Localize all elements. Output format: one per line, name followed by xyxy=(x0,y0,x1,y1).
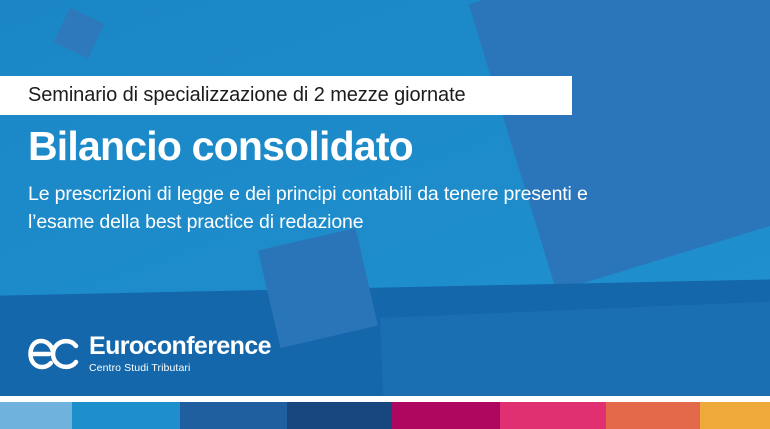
logo-name: Euroconference xyxy=(89,334,271,359)
subtitle-line-1: Le prescrizioni di legge e dei principi … xyxy=(28,180,744,208)
colorbar-segment-medium-blue xyxy=(180,402,287,429)
colorbar xyxy=(0,402,770,429)
page-title: Bilancio consolidato xyxy=(28,126,413,167)
colorbar-segment-blue xyxy=(72,402,180,429)
colorbar-segment-amber xyxy=(700,402,770,429)
logo-wordmark: Euroconference Centro Studi Tributari xyxy=(89,334,271,374)
ec-monogram-icon xyxy=(24,336,80,372)
colorbar-segment-magenta xyxy=(392,402,500,429)
eyebrow-text: Seminario di specializzazione di 2 mezze… xyxy=(28,84,466,107)
promo-poster: Seminario di specializzazione di 2 mezze… xyxy=(0,0,770,429)
subtitle-line-2: l’esame della best practice di redazione xyxy=(28,208,744,236)
colorbar-segment-light-blue xyxy=(0,402,72,429)
eyebrow-banner: Seminario di specializzazione di 2 mezze… xyxy=(0,76,572,115)
euroconference-logo: Euroconference Centro Studi Tributari xyxy=(24,334,271,374)
colorbar-segment-orange xyxy=(606,402,700,429)
colorbar-segment-pink xyxy=(500,402,606,429)
poster-content: Seminario di specializzazione di 2 mezze… xyxy=(0,0,770,429)
logo-tagline: Centro Studi Tributari xyxy=(89,363,271,374)
subtitle: Le prescrizioni di legge e dei principi … xyxy=(28,180,744,237)
colorbar-segment-navy xyxy=(287,402,392,429)
